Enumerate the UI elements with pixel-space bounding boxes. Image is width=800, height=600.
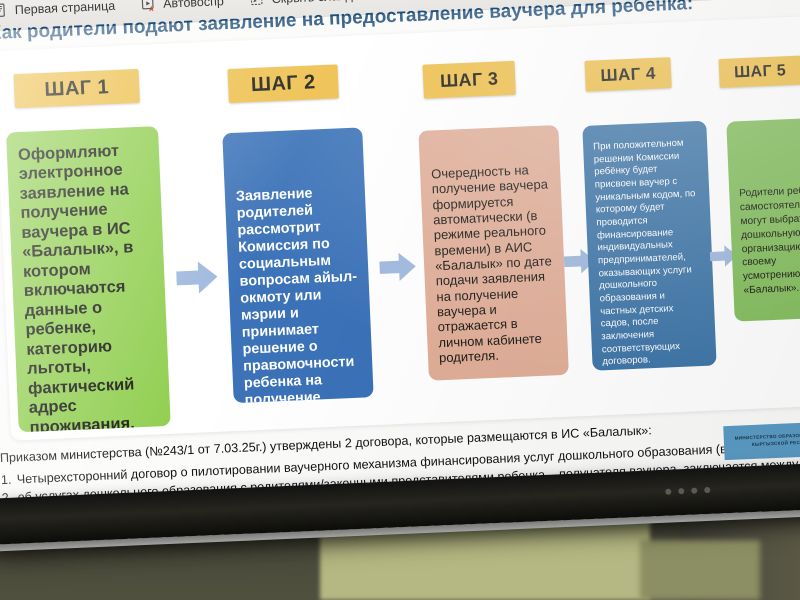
step-box-4-text: При положительном решении Комиссии ребён… xyxy=(582,121,716,371)
bezel-led xyxy=(678,488,684,494)
step-chip-3: ШАГ 3 xyxy=(423,61,516,99)
step-chip-5: ШАГ 5 xyxy=(719,56,800,88)
step-box-5-text: Родители ребенка самостоятельно могут вы… xyxy=(726,117,800,308)
hide-slides-icon xyxy=(249,0,265,7)
step-box-3: Очередность на получение ваучера формиру… xyxy=(418,125,569,381)
bezel-led xyxy=(704,487,710,493)
ministry-badge: МИНИСТЕРСТВО ОБРАЗОВАНИЯ И НАУКИ КЫРГЫЗС… xyxy=(723,421,800,460)
flow-card: ШАГ 1 ШАГ 2 ШАГ 3 ШАГ 4 ШАГ 5 Оформляют … xyxy=(0,15,800,440)
step-chip-1: ШАГ 1 xyxy=(14,69,140,108)
flow-arrow-2 xyxy=(379,251,418,283)
toolbar-item-label: Первая страница xyxy=(14,0,115,17)
flow-arrow-1 xyxy=(176,260,219,296)
bezel-led xyxy=(665,489,671,495)
step-box-1: Оформляют электронное заявление на получ… xyxy=(6,126,171,432)
ppt-recorder-icon xyxy=(387,0,403,1)
toolbar-item-autoplay[interactable]: Автовоспр xyxy=(141,0,224,12)
step-box-3-text: Очередность на получение ваучера формиру… xyxy=(418,125,569,380)
step-box-2: Заявление родителей рассмотрит Комиссия … xyxy=(222,127,373,403)
footer-list-item-number: 1. xyxy=(1,471,18,488)
floor-reflection-secondary xyxy=(640,540,760,600)
toolbar-item-hide-slides[interactable]: Скрыть слайды xyxy=(249,0,361,7)
bezel-indicator-lights xyxy=(665,487,710,495)
step-chip-2: ШАГ 2 xyxy=(228,64,339,103)
slide-canvas: Как родители подают заявление на предост… xyxy=(0,0,800,502)
step-box-2-text: Заявление родителей рассмотрит Комиссия … xyxy=(222,127,373,403)
toolbar-item-label: Автовоспр xyxy=(163,0,224,10)
step-box-5: Родители ребенка самостоятельно могут вы… xyxy=(726,117,800,321)
autoplay-icon xyxy=(141,0,157,12)
step-chip-4: ШАГ 4 xyxy=(585,57,672,92)
toolbar-item-label: Скрыть слайды xyxy=(271,0,361,6)
bezel-led xyxy=(691,487,697,493)
first-page-icon xyxy=(0,2,8,18)
toolbar-item-first-page[interactable]: Первая страница xyxy=(0,0,115,18)
step-box-1-text: Оформляют электронное заявление на получ… xyxy=(6,126,171,432)
step-box-4: При положительном решении Комиссии ребён… xyxy=(582,121,716,371)
